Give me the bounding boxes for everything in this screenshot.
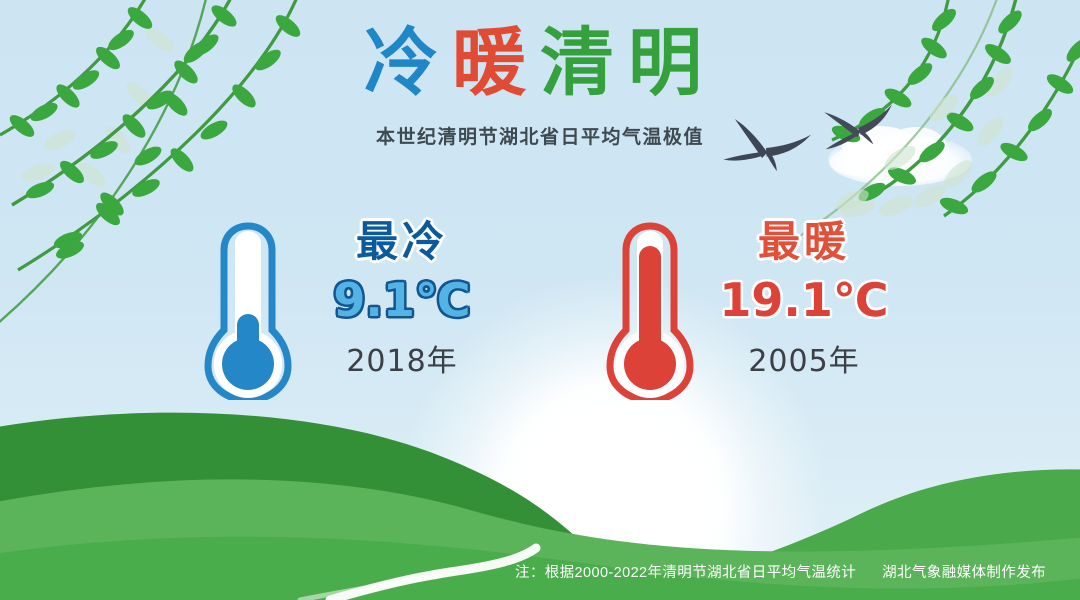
- page-title: 冷暖清明: [0, 26, 1080, 100]
- subtitle: 本世纪清明节湖北省日平均气温极值: [0, 122, 1080, 149]
- title-char-ming: 明: [628, 26, 716, 100]
- title-char-warm: 暖: [452, 26, 540, 100]
- stat-label: 最冷: [314, 220, 490, 264]
- thermometer-column-fill: [639, 246, 661, 370]
- thermometer-warm-icon: [598, 214, 702, 400]
- stat-text-coldest: 最冷 9.1℃ 2018年: [314, 214, 490, 380]
- stat-block-warmest: 最暖 19.1℃ 2005年: [598, 214, 892, 400]
- footer-note: 注：根据2000-2022年清明节湖北省日平均气温统计: [515, 561, 856, 582]
- title-char-cold: 冷: [364, 26, 452, 100]
- stat-year: 2005年: [716, 336, 892, 380]
- title-char-qing: 清: [540, 26, 628, 100]
- stat-text-warmest: 最暖 19.1℃ 2005年: [716, 214, 892, 380]
- thermometer-column-fill: [237, 314, 259, 370]
- stat-label: 最暖: [716, 220, 892, 264]
- footer: 注：根据2000-2022年清明节湖北省日平均气温统计湖北气象融媒体制作发布: [0, 561, 1080, 582]
- stat-value: 19.1℃: [716, 272, 892, 330]
- stat-value: 9.1℃: [314, 272, 490, 330]
- infographic-poster: 冷暖清明 本世纪清明节湖北省日平均气温极值 最冷 9.1℃ 2018年: [0, 0, 1080, 600]
- footer-credit: 湖北气象融媒体制作发布: [882, 561, 1046, 582]
- stat-block-coldest: 最冷 9.1℃ 2018年: [196, 214, 490, 400]
- thermometer-cold-icon: [196, 214, 300, 400]
- stat-year: 2018年: [314, 336, 490, 380]
- title-block: 冷暖清明 本世纪清明节湖北省日平均气温极值: [0, 26, 1080, 149]
